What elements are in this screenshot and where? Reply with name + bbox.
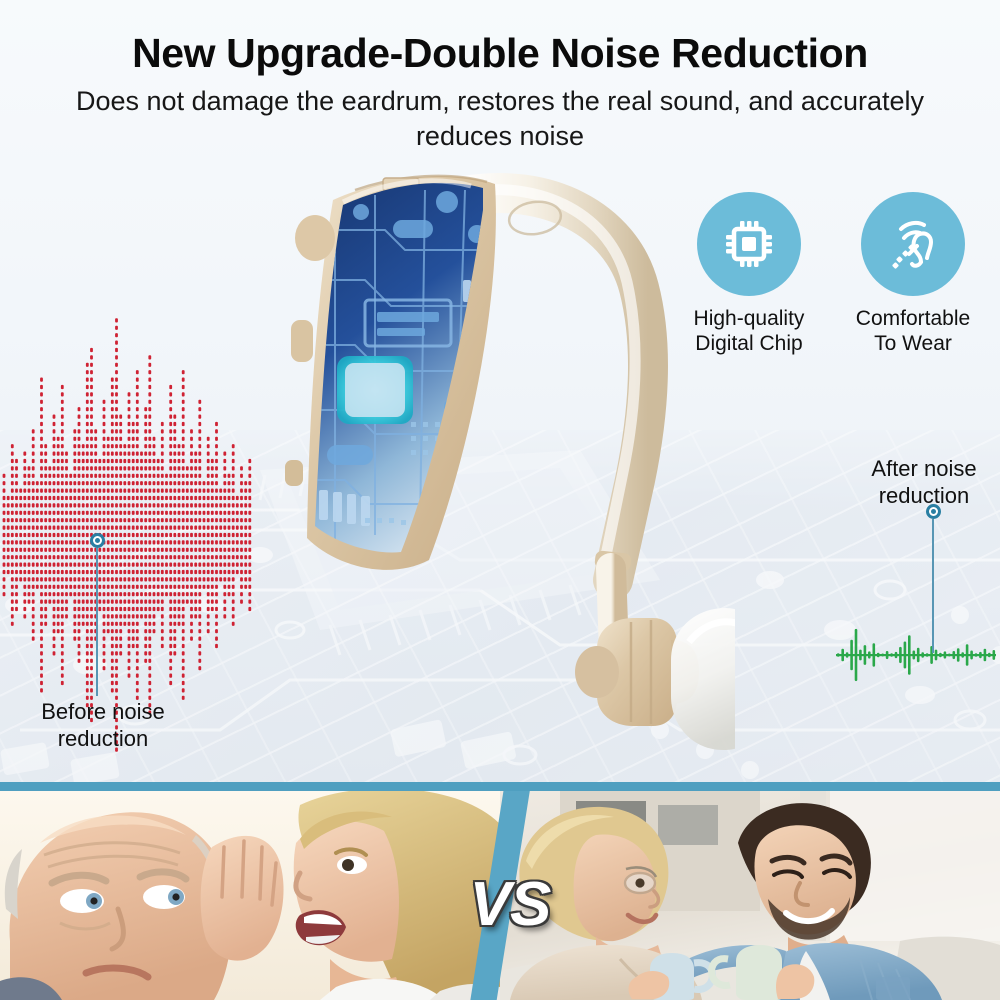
feature-badges: High-quality Digital Chip [680, 192, 982, 356]
hearing-aid-device [215, 160, 735, 780]
photo-right-illustration [500, 791, 1000, 1000]
badge-circle-ear [861, 192, 965, 296]
struggling-to-hear-photo [0, 791, 520, 1000]
hero-section: New Upgrade-Double Noise Reduction Does … [0, 0, 1000, 782]
glowing-chip [337, 356, 413, 424]
page-title: New Upgrade-Double Noise Reduction [0, 28, 1000, 78]
badge-circle-chip [697, 192, 801, 296]
clean-waveform [836, 600, 996, 710]
battery-latch [285, 460, 303, 486]
before-marker-dot [90, 533, 105, 548]
side-button [291, 320, 313, 362]
before-leader-line [96, 548, 98, 696]
feature-label: Comfortable To Wear [844, 306, 982, 356]
section-divider [0, 782, 1000, 791]
cpu-chip-icon [720, 215, 778, 273]
page-subtitle: Does not damage the eardrum, restores th… [60, 84, 940, 154]
feature-comfortable-wear: Comfortable To Wear [844, 192, 982, 356]
feature-digital-chip: High-quality Digital Chip [680, 192, 818, 356]
headline-block: New Upgrade-Double Noise Reduction Does … [0, 28, 1000, 154]
vs-label: VS [455, 874, 565, 936]
callout-before-label: Before noise reduction [8, 698, 198, 752]
ear-tip [671, 608, 735, 750]
volume-button [295, 215, 335, 261]
comparison-strip: VS [0, 791, 1000, 1000]
callout-after-label: After noise reduction [848, 455, 1000, 509]
easy-conversation-photo [500, 791, 1000, 1000]
product-banner: New Upgrade-Double Noise Reduction Does … [0, 0, 1000, 1000]
photo-left-illustration [0, 791, 520, 1000]
ear-hearing-icon [883, 214, 943, 274]
feature-label: High-quality Digital Chip [680, 306, 818, 356]
after-leader-line [932, 519, 934, 653]
after-marker-dot [926, 504, 941, 519]
